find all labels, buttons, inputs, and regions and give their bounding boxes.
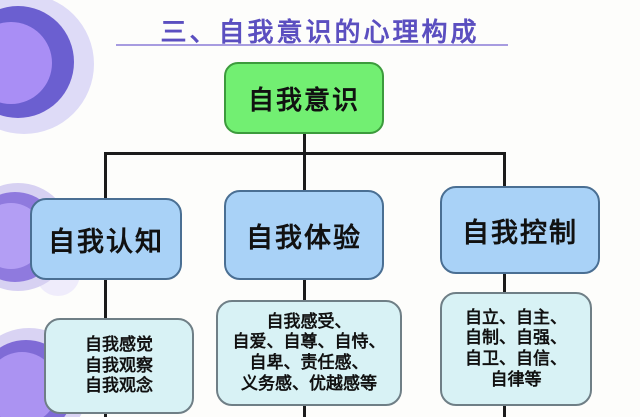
node-leaf-self-cognition-details[interactable]: 自我感觉 自我观察 自我观念: [44, 318, 194, 414]
connector-right-to-leaf: [503, 274, 506, 294]
title-underline: [116, 44, 508, 46]
connector-horizontal-bus: [104, 152, 504, 155]
node-root-self-consciousness[interactable]: 自我意识: [224, 62, 384, 134]
decorative-circle-top-inner: [0, 22, 52, 104]
connector-right-leaf-stub: [503, 406, 506, 417]
node-branch-label: 自我认知: [48, 220, 164, 259]
node-branch-self-cognition[interactable]: 自我认知: [30, 198, 182, 280]
decorative-circle-top-outer: [0, 0, 94, 134]
connector-center-leaf-stub: [303, 406, 306, 417]
node-branch-self-experience[interactable]: 自我体验: [224, 190, 384, 280]
node-root-label: 自我意识: [248, 80, 360, 117]
node-leaf-text: 自立、自主、 自制、自强、 自卫、自信、 自律等: [465, 308, 567, 391]
connector-center-to-leaf: [303, 280, 306, 302]
node-branch-self-control[interactable]: 自我控制: [440, 186, 600, 274]
node-branch-label: 自我体验: [246, 216, 362, 255]
connector-bus-to-left: [104, 152, 107, 200]
node-leaf-text: 自我感受、 自爱、自尊、自恃、 自卑、责任感、 义务感、优越感等: [233, 312, 386, 395]
node-branch-label: 自我控制: [462, 211, 578, 250]
node-leaf-self-control-details[interactable]: 自立、自主、 自制、自强、 自卫、自信、 自律等: [440, 292, 592, 406]
node-leaf-text: 自我感觉 自我观察 自我观念: [85, 335, 153, 397]
slide-canvas: 三、自我意识的心理构成 自我意识 自我认知 自我体验 自我控制 自我感觉 自我观…: [0, 0, 640, 417]
connector-bus-to-center: [303, 152, 306, 192]
connector-bus-to-right: [503, 152, 506, 188]
connector-left-to-leaf: [104, 280, 107, 320]
connector-root-stem: [303, 134, 306, 154]
decorative-circle-top-middle: [0, 6, 74, 118]
node-leaf-self-experience-details[interactable]: 自我感受、 自爱、自尊、自恃、 自卑、责任感、 义务感、优越感等: [216, 300, 402, 406]
